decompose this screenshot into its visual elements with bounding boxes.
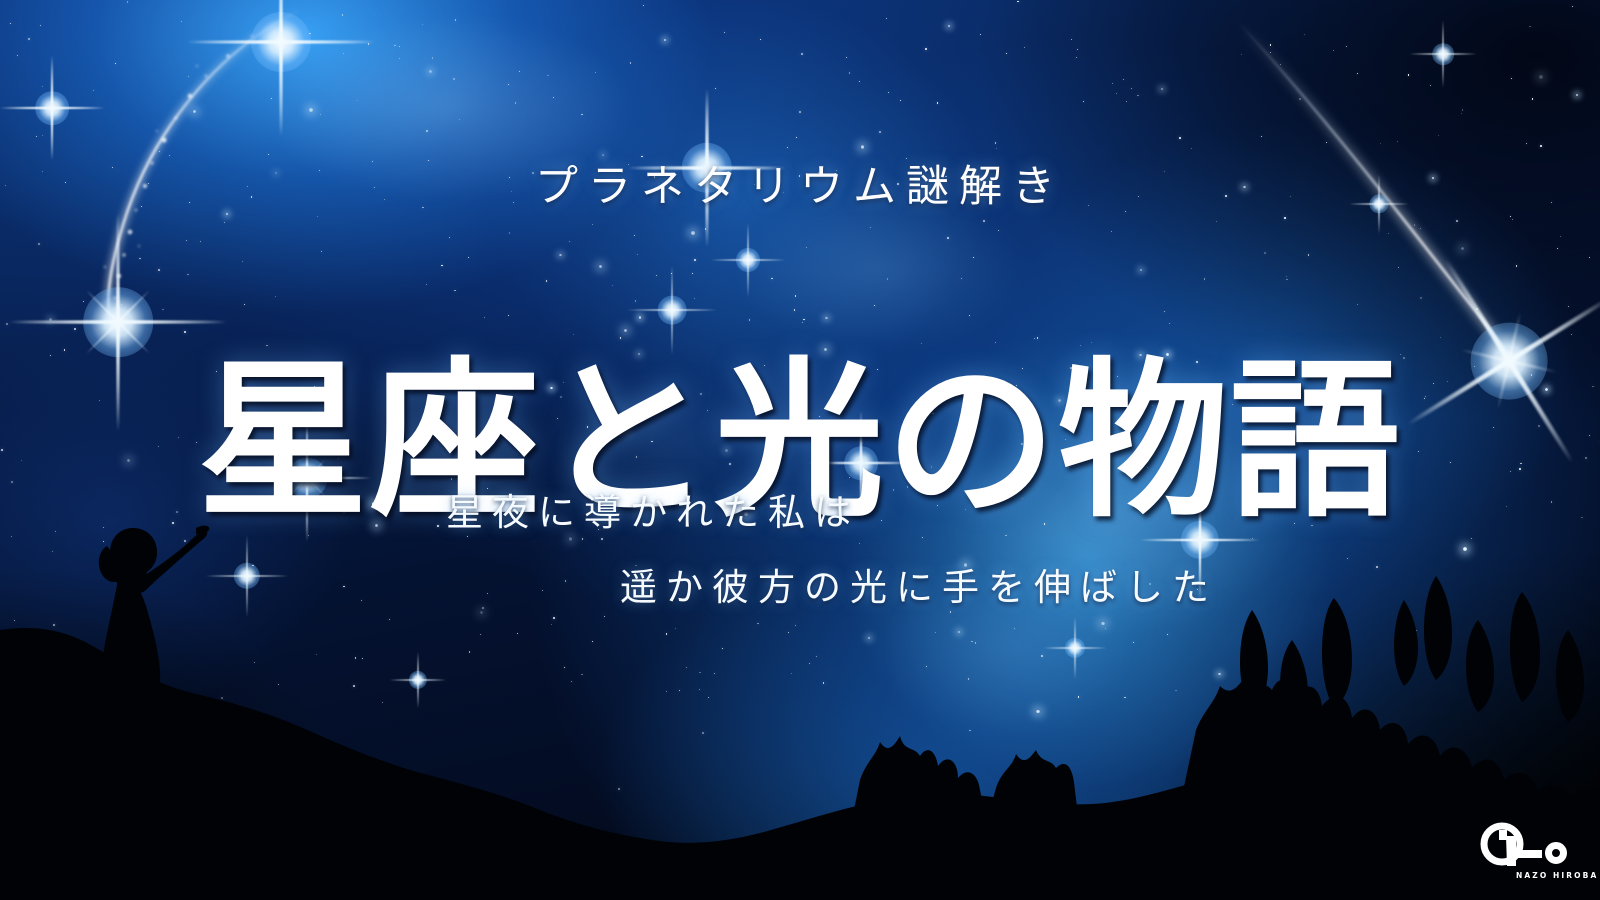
star <box>36 136 37 137</box>
star <box>1571 334 1572 335</box>
star <box>468 257 469 258</box>
star <box>1456 220 1458 222</box>
star <box>453 78 455 80</box>
star <box>1091 342 1092 343</box>
star <box>1510 216 1511 217</box>
star <box>188 76 189 77</box>
star <box>925 48 927 50</box>
star <box>1420 297 1422 299</box>
star <box>1357 304 1358 305</box>
star <box>1511 78 1512 79</box>
star <box>1216 221 1217 222</box>
star <box>996 148 997 149</box>
star <box>973 257 974 258</box>
star <box>656 275 657 276</box>
star <box>454 290 456 292</box>
star <box>309 33 311 35</box>
star <box>1397 141 1398 142</box>
star <box>1017 1 1019 3</box>
star <box>275 296 276 297</box>
star <box>624 329 627 332</box>
star <box>64 349 66 351</box>
star <box>484 317 485 318</box>
bush-center-silhouette <box>852 736 986 820</box>
star <box>1512 219 1513 220</box>
star <box>6 323 8 325</box>
star <box>980 34 981 35</box>
star <box>432 57 433 58</box>
star <box>595 72 596 73</box>
star <box>1532 98 1534 100</box>
star <box>620 337 621 338</box>
star <box>1241 54 1243 56</box>
star <box>671 273 672 274</box>
star <box>1140 269 1143 272</box>
star <box>801 53 803 55</box>
star <box>787 147 788 148</box>
star <box>1408 74 1409 75</box>
star <box>342 14 344 16</box>
poster-canvas: プラネタリウム謎解き 星座と光の物語 星夜に導かれた私は 遥か彼方の光に手を伸ば… <box>0 0 1600 900</box>
star <box>1169 323 1170 324</box>
star <box>1539 75 1542 78</box>
star <box>1261 136 1262 137</box>
person-sitting-reaching-silhouette <box>84 526 304 812</box>
star <box>399 46 400 47</box>
star <box>1440 337 1441 338</box>
star <box>692 273 693 274</box>
star <box>1284 217 1286 219</box>
star <box>1083 101 1084 102</box>
star <box>121 304 122 305</box>
star <box>715 88 716 89</box>
star <box>639 316 642 319</box>
star <box>637 254 638 255</box>
star <box>1326 142 1328 144</box>
star <box>429 70 432 73</box>
star <box>1137 95 1139 97</box>
star <box>1526 143 1527 144</box>
ground-svg <box>0 480 1600 900</box>
star <box>1461 247 1464 250</box>
star <box>42 135 43 136</box>
star <box>1589 257 1590 258</box>
star <box>1308 254 1310 256</box>
star <box>1414 224 1415 225</box>
star <box>1430 85 1431 86</box>
star <box>612 285 613 286</box>
star <box>1024 47 1025 48</box>
star <box>1280 64 1281 65</box>
star <box>947 237 949 239</box>
star <box>28 38 30 40</box>
star <box>1398 267 1399 268</box>
star <box>224 222 225 223</box>
star <box>426 130 428 132</box>
star <box>1438 135 1439 136</box>
star <box>546 280 547 281</box>
star <box>802 322 803 323</box>
star <box>1191 148 1193 150</box>
star <box>17 55 18 56</box>
star <box>771 278 773 280</box>
star <box>127 1 128 2</box>
star <box>1357 73 1358 74</box>
star <box>426 284 427 285</box>
star <box>368 43 370 45</box>
star <box>93 90 94 91</box>
star <box>1270 44 1272 46</box>
star <box>181 21 182 22</box>
star <box>886 18 887 19</box>
star <box>749 319 751 321</box>
star <box>1034 338 1035 339</box>
star <box>859 81 860 82</box>
star <box>244 304 245 305</box>
star <box>559 254 562 257</box>
star <box>40 25 41 26</box>
star <box>1164 311 1165 312</box>
star <box>1264 252 1266 254</box>
star <box>581 114 582 115</box>
star <box>1126 101 1128 103</box>
star <box>1076 57 1077 58</box>
star <box>635 300 637 302</box>
foreground-silhouette <box>0 480 1600 900</box>
star <box>547 75 548 76</box>
star <box>317 216 318 217</box>
star <box>49 318 52 321</box>
star <box>961 278 962 279</box>
star <box>573 334 574 335</box>
star <box>1529 26 1531 28</box>
star <box>1112 83 1113 84</box>
star <box>1071 39 1072 40</box>
star <box>399 58 401 60</box>
star <box>459 119 460 120</box>
star <box>1380 143 1381 144</box>
logo-wordmark: NAZO HIROBA <box>1516 871 1598 880</box>
star <box>1388 233 1389 234</box>
star <box>1304 34 1305 35</box>
star <box>162 309 163 310</box>
star <box>937 102 938 103</box>
star <box>874 305 875 306</box>
star <box>187 274 188 275</box>
star <box>321 251 322 252</box>
star <box>1346 46 1347 47</box>
star <box>74 328 76 330</box>
star <box>455 19 457 21</box>
star <box>186 240 187 241</box>
star <box>242 261 243 262</box>
star <box>1111 231 1112 232</box>
star <box>1037 337 1039 339</box>
star <box>1270 52 1271 53</box>
star <box>849 72 850 73</box>
star <box>1462 109 1463 110</box>
star <box>422 24 423 25</box>
star <box>1080 345 1081 346</box>
star <box>1123 79 1124 80</box>
star <box>1179 137 1181 139</box>
star <box>1540 145 1542 147</box>
star <box>519 71 520 72</box>
star <box>10 23 11 24</box>
star <box>825 317 828 320</box>
star <box>983 220 985 222</box>
star <box>115 63 116 64</box>
star <box>705 228 707 230</box>
star <box>760 39 761 40</box>
nazo-hiroba-logo-icon[interactable] <box>1476 820 1580 874</box>
star <box>1116 93 1117 94</box>
star <box>900 100 901 101</box>
star <box>515 102 517 104</box>
star <box>320 114 321 115</box>
star <box>1420 228 1421 229</box>
star <box>184 331 186 333</box>
star <box>553 97 554 98</box>
star <box>1461 113 1462 114</box>
star <box>803 319 804 320</box>
leaf-spikes-silhouette <box>1240 576 1584 732</box>
star <box>1299 98 1301 100</box>
star <box>664 39 667 42</box>
star <box>1286 279 1288 281</box>
star <box>139 258 140 259</box>
star <box>271 98 272 99</box>
star <box>969 315 970 316</box>
star <box>1560 236 1561 237</box>
star <box>42 86 43 87</box>
star <box>1333 50 1334 51</box>
star <box>998 230 999 231</box>
star <box>599 265 602 268</box>
star <box>193 110 196 113</box>
star <box>357 100 358 101</box>
star <box>508 315 509 316</box>
star <box>158 269 160 271</box>
star <box>1286 276 1287 277</box>
star <box>794 309 796 311</box>
star <box>1077 49 1078 50</box>
star <box>995 142 996 143</box>
star <box>592 224 593 225</box>
star <box>948 25 951 28</box>
star <box>266 345 268 347</box>
star <box>995 342 996 343</box>
star <box>634 235 635 236</box>
star <box>394 45 396 47</box>
star <box>691 231 694 234</box>
star <box>879 131 881 133</box>
star <box>1131 88 1133 90</box>
star <box>1557 248 1558 249</box>
star <box>795 295 797 297</box>
star <box>921 343 922 344</box>
poster-subtitle: プラネタリウム謎解き <box>0 152 1600 214</box>
star <box>1576 94 1579 97</box>
star <box>694 298 695 299</box>
star <box>509 232 510 233</box>
star <box>569 241 570 242</box>
star <box>806 247 807 248</box>
star <box>449 237 450 238</box>
star <box>630 62 632 64</box>
star <box>441 265 442 266</box>
star <box>508 84 509 85</box>
star <box>1516 265 1518 267</box>
star <box>887 278 889 280</box>
brand-logo[interactable]: NAZO HIROBA <box>1476 820 1580 882</box>
star <box>796 137 797 138</box>
star <box>83 301 84 302</box>
star <box>870 227 871 228</box>
star <box>724 32 725 33</box>
star <box>309 108 312 111</box>
star <box>1476 308 1478 310</box>
star <box>1006 53 1007 54</box>
star <box>200 241 201 242</box>
star <box>694 259 696 261</box>
star <box>846 57 847 58</box>
star <box>1204 278 1206 280</box>
star <box>1568 306 1569 307</box>
star <box>1572 6 1573 7</box>
star <box>38 243 40 245</box>
star <box>861 145 864 148</box>
star <box>1161 88 1164 91</box>
star <box>343 53 344 54</box>
bush-center2-silhouette <box>988 750 1078 816</box>
star <box>888 92 889 93</box>
star <box>799 111 801 113</box>
star <box>643 5 644 6</box>
